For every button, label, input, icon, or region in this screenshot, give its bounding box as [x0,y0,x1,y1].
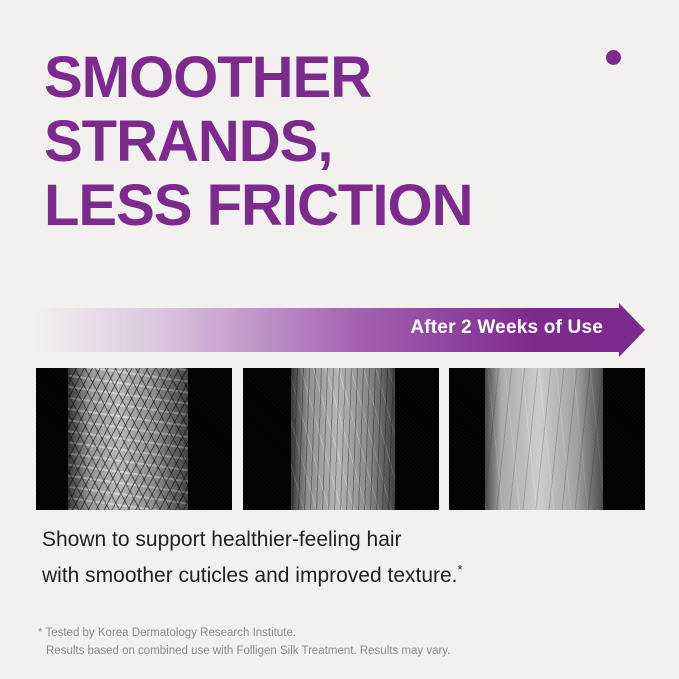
footnote: * Tested by Korea Dermatology Research I… [38,624,638,660]
caption-line-2-text: with smoother cuticles and improved text… [42,564,458,587]
caption-line-2: with smoother cuticles and improved text… [42,555,642,591]
micrograph-strip [36,368,645,510]
caption-line-1: Shown to support healthier-feeling hair [42,525,642,555]
footnote-line-1: * Tested by Korea Dermatology Research I… [38,624,638,642]
arrow-label: After 2 Weeks of Use [410,317,603,339]
hair-fiber-smooth-icon [485,368,603,510]
page-title: SMOOTHER STRANDS, LESS FRICTION [44,46,644,238]
body-caption: Shown to support healthier-feeling hair … [42,525,642,591]
micrograph-panel-1 [36,368,232,510]
micrograph-panel-2 [243,368,439,510]
promo-image: SMOOTHER STRANDS, LESS FRICTION After 2 … [0,0,679,679]
headline-line-1: SMOOTHER [44,46,644,110]
hair-fiber-rough-icon [68,368,188,510]
progress-arrow: After 2 Weeks of Use [36,303,645,357]
caption-asterisk: * [458,562,463,577]
headline-line-2: STRANDS, [44,110,644,174]
arrow-head-icon [619,303,645,357]
footnote-line-2: Results based on combined use with Folli… [38,642,638,660]
micrograph-panel-3 [449,368,645,510]
headline-line-3: LESS FRICTION [44,174,644,238]
hair-fiber-medium-icon [291,368,395,510]
